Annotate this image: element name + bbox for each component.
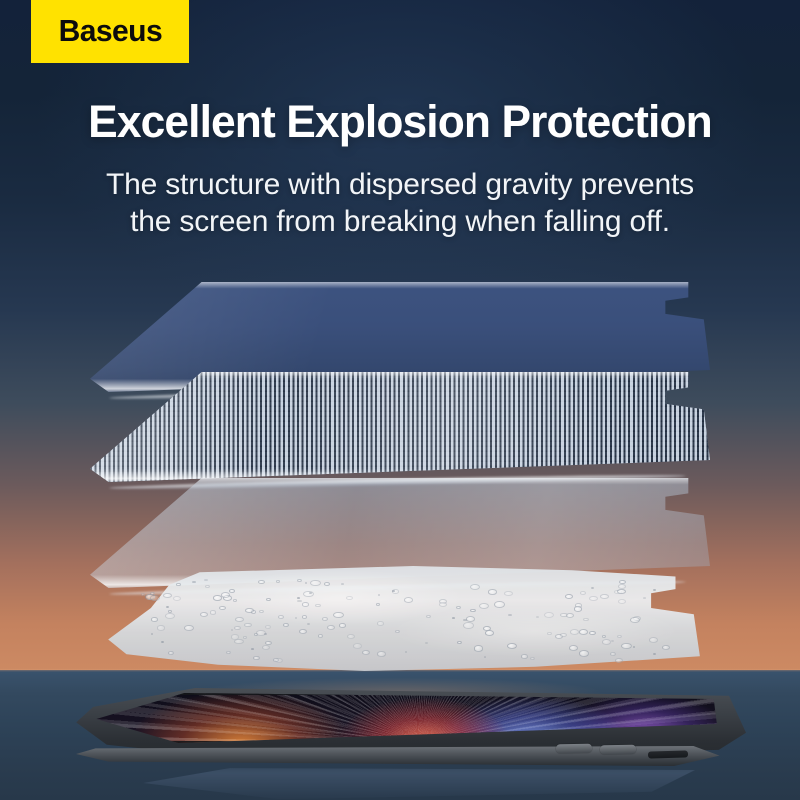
air-bubble [258, 580, 265, 585]
air-bubble [565, 594, 573, 599]
air-bubble [474, 645, 484, 651]
speaker-grille-icon [648, 750, 688, 758]
product-layer-dispersed-gravity-lattice-mesh [90, 372, 710, 482]
air-bubble [302, 602, 310, 607]
air-bubble [226, 651, 231, 654]
air-bubble [463, 622, 474, 629]
air-bubble [377, 651, 386, 656]
air-bubble [184, 625, 193, 631]
air-bubble [439, 602, 447, 607]
volume-down-button [600, 745, 636, 755]
air-bubble [378, 594, 380, 596]
air-bubble [254, 633, 258, 636]
air-bubble [150, 595, 159, 601]
air-bubble [617, 635, 622, 638]
air-bubble [643, 597, 646, 599]
air-bubble [192, 581, 196, 583]
air-bubble [376, 603, 380, 605]
air-bubble [339, 623, 346, 627]
air-bubble [231, 634, 239, 639]
air-bubble [219, 606, 226, 610]
air-bubble [580, 591, 586, 595]
air-bubble [157, 625, 166, 630]
air-bubble [151, 617, 159, 622]
air-bubble [611, 640, 613, 642]
air-bubble [649, 637, 658, 643]
air-bubble [176, 583, 180, 586]
air-bubble [265, 625, 271, 629]
air-bubble [617, 589, 626, 595]
air-bubble [488, 589, 497, 594]
air-bubble [610, 652, 616, 656]
air-bubble [307, 623, 310, 625]
product-layer-silicone-adhesive-film [96, 566, 706, 671]
air-bubble [347, 634, 355, 639]
air-bubble [205, 585, 211, 588]
air-bubble [322, 617, 329, 621]
air-bubble [504, 591, 512, 596]
air-bubble [210, 610, 217, 614]
air-bubble [583, 618, 589, 621]
tablet-device [66, 688, 746, 774]
air-bubble [574, 606, 582, 611]
air-bubble [621, 643, 631, 649]
air-bubble [392, 590, 395, 592]
air-bubble [346, 596, 353, 600]
air-bubble [163, 593, 171, 598]
air-bubble [579, 650, 589, 656]
air-bubble [165, 613, 174, 619]
air-bubble [662, 645, 670, 650]
air-bubble [333, 612, 344, 619]
air-bubble [245, 608, 253, 613]
air-bubble [204, 579, 208, 581]
air-bubble [234, 626, 240, 630]
air-bubble [653, 653, 655, 655]
air-bubble [243, 636, 247, 638]
air-bubble [456, 606, 461, 609]
air-bubble [341, 583, 345, 585]
air-bubble [395, 630, 400, 633]
air-bubble [273, 658, 279, 662]
air-bubble [362, 650, 370, 655]
air-bubble [470, 609, 476, 613]
air-bubble [305, 582, 307, 584]
air-bubble [278, 615, 284, 619]
air-bubble [591, 587, 593, 589]
air-bubble [235, 617, 244, 622]
air-bubble [426, 615, 431, 618]
air-bubble [452, 617, 455, 619]
air-bubble [264, 633, 267, 635]
air-bubble [297, 579, 303, 582]
air-bubble [213, 595, 222, 600]
air-bubble [310, 580, 321, 587]
promo-image-canvas: Baseus Excellent Explosion Protection Th… [0, 0, 800, 800]
air-bubble [251, 648, 254, 650]
air-bubble [151, 633, 153, 635]
air-bubble [570, 629, 580, 635]
air-bubble [470, 584, 480, 590]
air-bubble [508, 614, 511, 616]
air-bubble [318, 634, 324, 637]
air-bubble [244, 623, 252, 628]
air-bubble [266, 598, 271, 601]
air-bubble [297, 600, 301, 603]
air-bubble [234, 639, 243, 645]
layer-rim-highlight [90, 372, 710, 482]
air-bubble [536, 616, 539, 618]
air-bubble [479, 603, 490, 610]
air-bubble [484, 656, 486, 658]
air-bubble [544, 612, 554, 618]
air-bubble [630, 617, 639, 623]
air-bubble [569, 645, 578, 651]
air-bubble [309, 592, 312, 594]
air-bubble [283, 623, 290, 627]
air-bubble [494, 601, 505, 608]
air-bubble [405, 651, 408, 653]
air-bubble [521, 654, 528, 659]
air-bubble [353, 643, 362, 649]
air-bubble [324, 582, 330, 586]
air-bubble [253, 656, 259, 660]
air-bubble [485, 630, 494, 636]
air-bubble [560, 633, 567, 638]
air-bubble [579, 629, 588, 635]
air-bubble [168, 610, 172, 613]
exploded-layer-stack [0, 0, 800, 800]
air-bubble [200, 612, 208, 617]
air-bubble [653, 589, 655, 591]
air-bubble [530, 657, 535, 660]
air-bubble [377, 621, 385, 626]
air-bubble [589, 596, 598, 601]
air-bubble [233, 599, 238, 602]
film-air-bubbles [96, 566, 706, 671]
air-bubble [457, 641, 462, 644]
air-bubble [299, 629, 307, 634]
air-bubble [618, 584, 626, 589]
air-bubble [507, 643, 517, 649]
air-bubble [231, 629, 233, 631]
air-bubble [602, 635, 606, 637]
air-bubble [315, 604, 320, 607]
air-bubble [602, 639, 612, 645]
air-bubble [425, 642, 428, 644]
air-bubble [166, 606, 169, 608]
volume-up-button [556, 744, 592, 754]
air-bubble [618, 599, 626, 604]
air-bubble [161, 641, 164, 643]
air-bubble [302, 615, 308, 618]
air-bubble [600, 594, 609, 599]
air-bubble [168, 651, 174, 655]
air-bubble [633, 646, 635, 648]
air-bubble [615, 658, 623, 663]
air-bubble [327, 625, 335, 630]
air-bubble [229, 589, 235, 593]
air-bubble [173, 596, 182, 601]
air-bubble [566, 613, 574, 618]
air-bubble [262, 645, 270, 650]
air-bubble [404, 597, 413, 603]
air-bubble [295, 617, 297, 619]
air-bubble [259, 610, 264, 613]
air-bubble [589, 631, 596, 635]
air-bubble [547, 632, 552, 635]
air-bubble [276, 580, 280, 583]
